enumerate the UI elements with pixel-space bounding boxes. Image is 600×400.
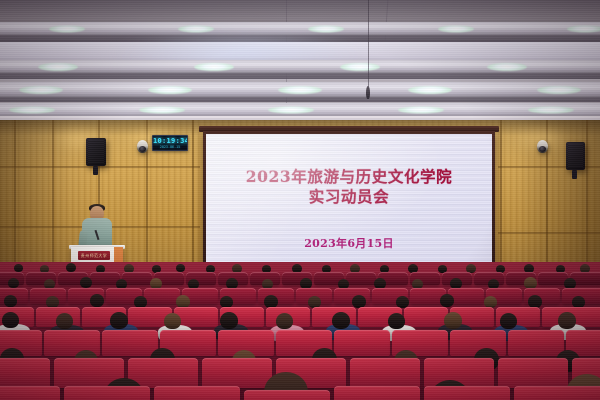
attendee-head: [332, 312, 350, 329]
seat: [334, 386, 420, 400]
clock-date: 2023-06-15: [153, 145, 187, 149]
slide-title-line-1: 2023年旅游与历史文化学院: [206, 167, 492, 187]
ceiling: [0, 0, 600, 128]
speaker-mount-bracket: [93, 166, 98, 175]
attendee-head: [558, 312, 576, 329]
attendee-head: [500, 313, 517, 329]
podium-plaque-text: 贵州师范大学: [81, 253, 107, 259]
seat: [102, 330, 158, 356]
wall-light-fixture: [537, 140, 548, 153]
wall-panel-seam: [192, 120, 194, 285]
wall-panel-seam: [586, 120, 588, 285]
audience-seating: [0, 262, 600, 400]
seat: [244, 390, 330, 400]
attendee-head: [110, 312, 128, 329]
attendee-head: [80, 277, 92, 288]
microphone-wire: [368, 0, 369, 88]
seat: [350, 358, 420, 388]
attendee-head: [56, 313, 73, 329]
wall-panel-seam: [52, 120, 54, 285]
seat: [154, 386, 240, 400]
podium-plaque: 贵州师范大学: [78, 251, 110, 260]
seat: [498, 358, 568, 388]
seat: [0, 358, 50, 388]
attendee-head: [2, 312, 19, 328]
ceiling-beam: [0, 82, 600, 97]
attendee-head: [164, 313, 181, 329]
attendee-head: [388, 313, 405, 329]
led-wall-clock: 10:19:34 2023-06-15: [152, 135, 188, 151]
seat: [514, 386, 600, 400]
attendee-head: [220, 312, 238, 329]
speaker-mount-bracket: [572, 170, 577, 179]
slide-title: 2023年旅游与历史文化学院 实习动员会: [206, 167, 492, 207]
projection-screen: 2023年旅游与历史文化学院 实习动员会 2023年6月15日: [206, 134, 492, 273]
attendee-head: [444, 312, 462, 329]
attendee-head: [176, 264, 185, 272]
wall-camera-icon: [137, 140, 148, 153]
attendee-head: [276, 313, 293, 329]
seat: [424, 386, 510, 400]
ceiling-beam: [0, 60, 600, 73]
projection-screen-frame: 2023年旅游与历史文化学院 实习动员会 2023年6月15日: [203, 131, 495, 276]
seat: [346, 272, 376, 285]
attendee-head: [440, 294, 454, 307]
auditorium-photo: 10:19:34 2023-06-15 2023年旅游与历史文化学院 实习动员会…: [0, 0, 600, 400]
attendee-head: [90, 294, 104, 307]
wall-panel-seam: [500, 120, 502, 285]
seat: [202, 358, 272, 388]
wall-right-shading: [520, 120, 600, 285]
wall-speaker-right: [566, 142, 585, 170]
slide-title-line-2: 实习动员会: [206, 187, 492, 207]
seat: [508, 330, 564, 356]
seat: [64, 386, 150, 400]
clock-time: 10:19:34: [153, 137, 187, 145]
slide-date: 2023年6月15日: [206, 235, 492, 251]
hanging-microphone-icon: [366, 86, 370, 99]
attendee-head: [66, 263, 76, 272]
seat: [144, 288, 180, 304]
seat: [404, 307, 448, 327]
ceiling-beam: [0, 22, 600, 35]
wall-panel-seam: [0, 166, 200, 168]
wall-panel-seam: [498, 232, 600, 234]
attendee-head: [8, 278, 19, 288]
ceiling-beam: [0, 103, 600, 117]
seat: [0, 386, 60, 400]
wall-panel-seam: [14, 120, 16, 285]
attendee-head: [14, 264, 23, 272]
wall-left-shading: [0, 120, 70, 285]
attendee-head: [4, 295, 17, 307]
wall-speaker-left: [86, 138, 106, 166]
seat: [334, 330, 390, 356]
